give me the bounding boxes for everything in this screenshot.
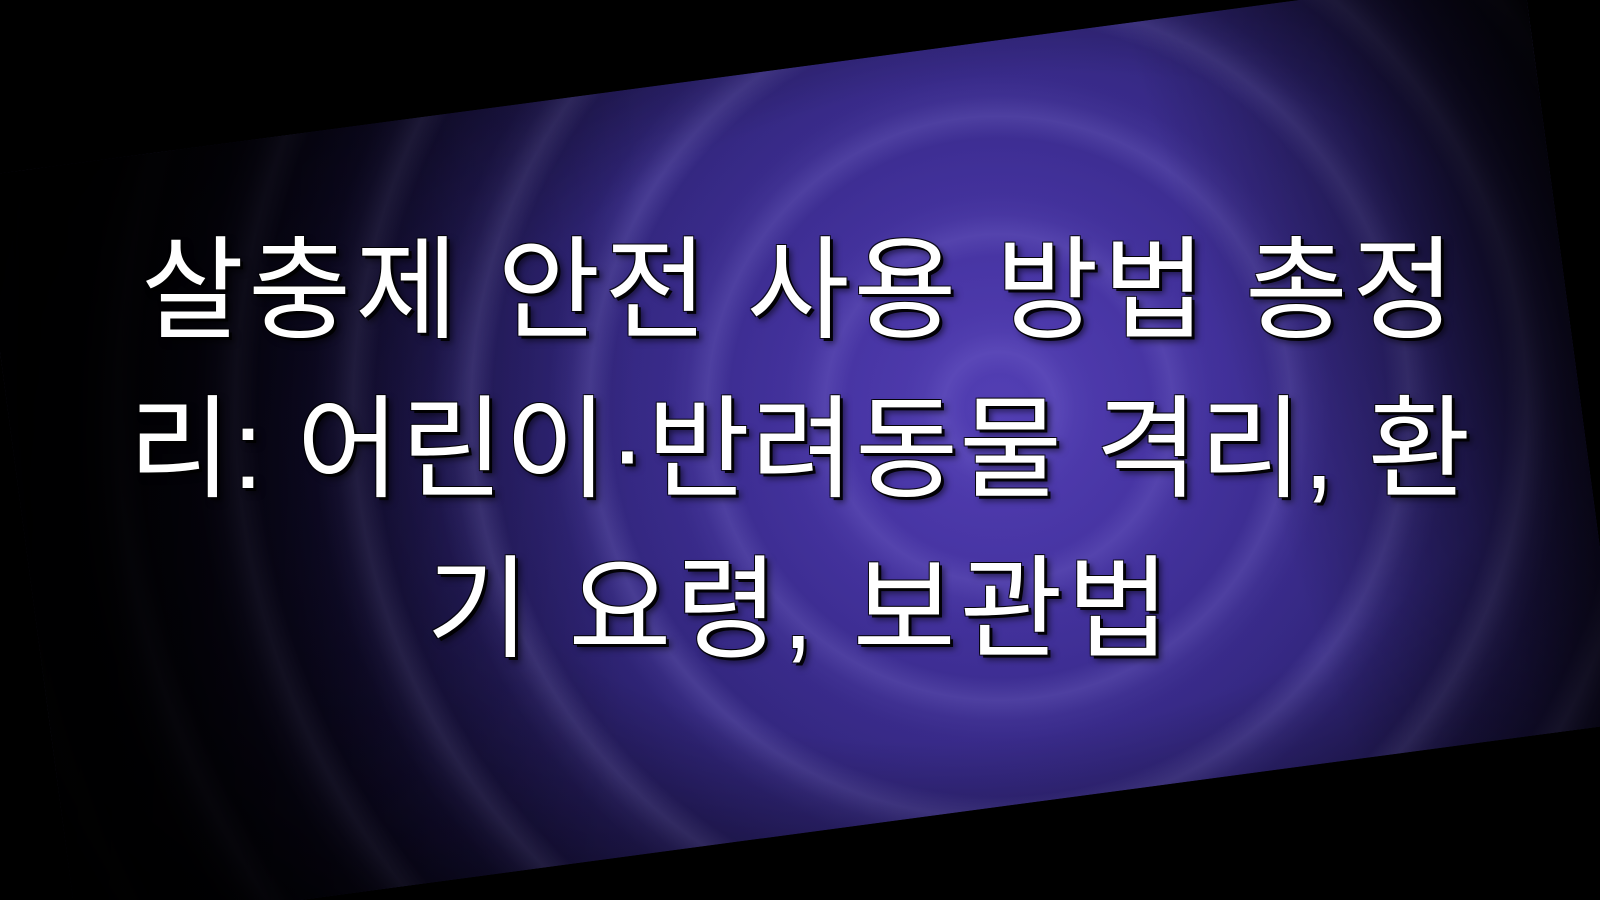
title-slide: 살충제 안전 사용 방법 총정 리: 어린이·반려동물 격리, 환 기 요령, … bbox=[0, 0, 1600, 900]
ripple-right-shadow bbox=[0, 0, 1600, 900]
background-plate bbox=[0, 0, 1600, 900]
